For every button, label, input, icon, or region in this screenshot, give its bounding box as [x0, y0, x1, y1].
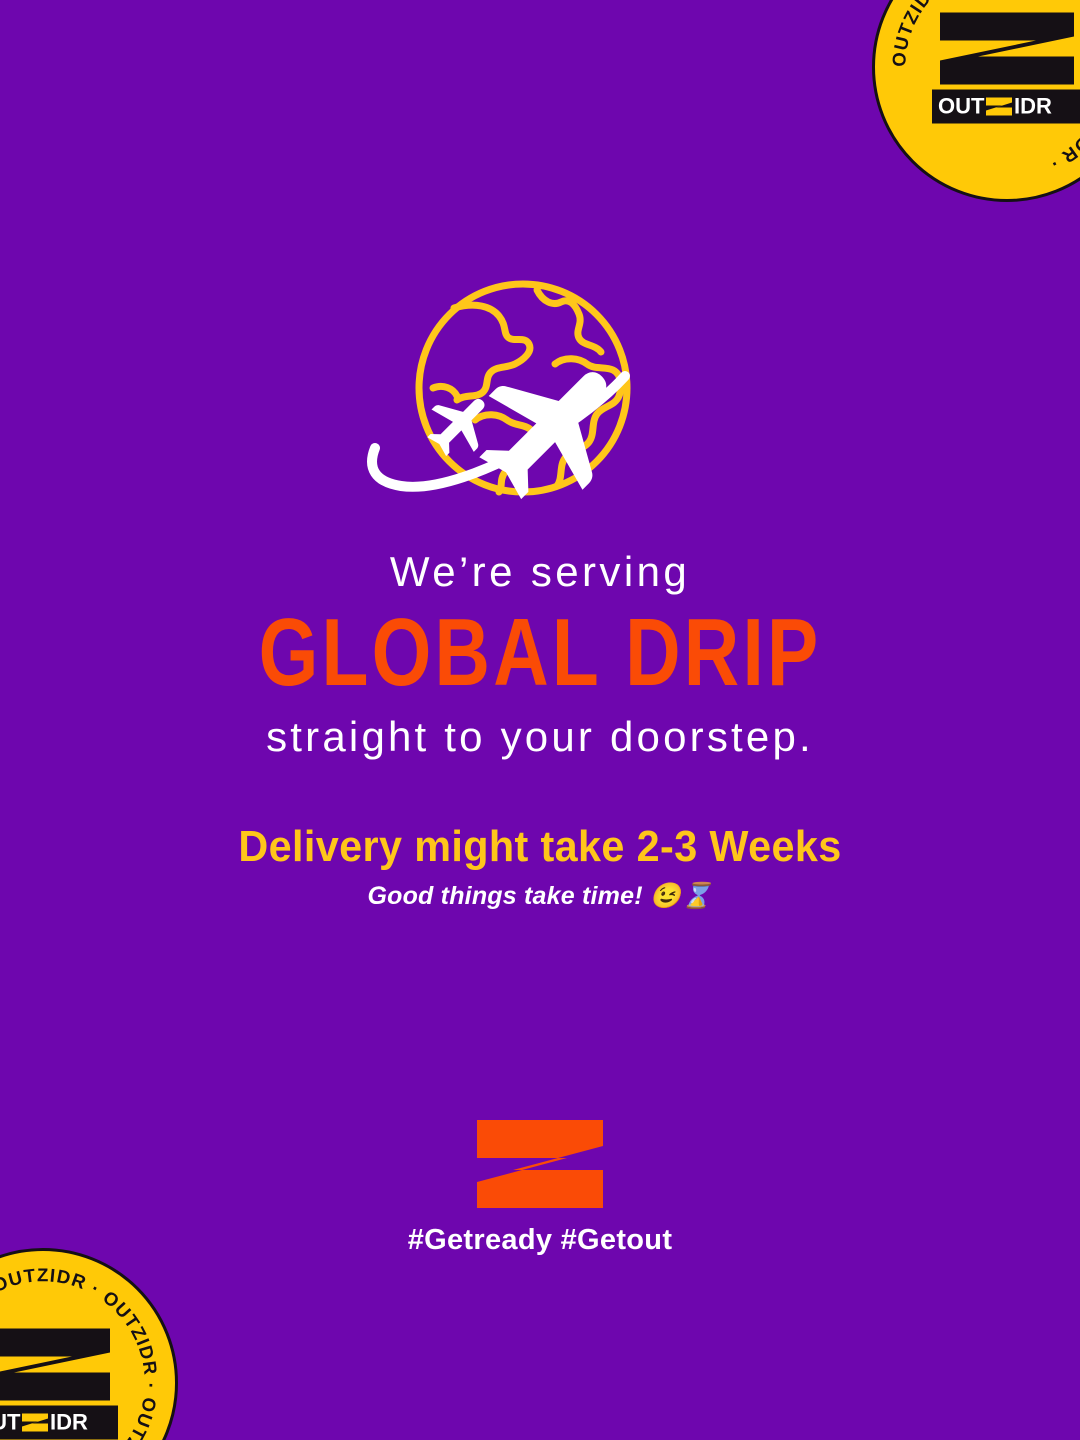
- headline-line-2: GLOBAL DRIP: [108, 601, 972, 705]
- svg-text:IDR: IDR: [1014, 94, 1052, 119]
- headline-block: We’re serving GLOBAL DRIP straight to yo…: [0, 548, 1080, 760]
- badge-wordmark-icon: OUT IDR: [0, 1410, 112, 1436]
- badge-z-logo-icon: [0, 1327, 118, 1403]
- headline-line-3: straight to your doorstep.: [0, 713, 1080, 760]
- delivery-block: Delivery might take 2-3 Weeks Good thing…: [0, 822, 1080, 911]
- delivery-main-text: Delivery might take 2-3 Weeks: [32, 822, 1047, 872]
- badge-z-logo-icon: [932, 11, 1080, 87]
- svg-text:OUT: OUT: [938, 94, 985, 119]
- svg-text:IDR: IDR: [50, 1410, 88, 1435]
- badge-wordmark-box: OUT IDR: [0, 1406, 118, 1440]
- footer-block: #Getready #Getout: [0, 1120, 1080, 1257]
- brand-z-logo-icon: [477, 1120, 603, 1208]
- poster-canvas: OUTZIDR · OUTZIDR · OUTZIDR · OUTZIDR · …: [0, 0, 1080, 1440]
- delivery-sub-text: Good things take time! 😉⌛: [0, 882, 1080, 911]
- badge-core-bottom-left: OUT IDR: [0, 1327, 118, 1440]
- badge-wordmark-icon: OUT IDR: [938, 94, 1076, 120]
- globe-airplane-illustration: [0, 272, 1080, 508]
- headline-line-1: We’re serving: [0, 548, 1080, 595]
- footer-hashtags: #Getready #Getout: [408, 1224, 673, 1257]
- badge-core-top-right: OUT IDR: [932, 11, 1080, 124]
- svg-text:OUT: OUT: [0, 1410, 21, 1435]
- badge-wordmark-box: OUT IDR: [932, 90, 1080, 124]
- badge-top-right: OUTZIDR · OUTZIDR · OUTZIDR · OUTZIDR · …: [872, 0, 1080, 202]
- badge-bottom-left: OUTZIDR · OUTZIDR · OUTZIDR · OUTZIDR · …: [0, 1248, 178, 1440]
- globe-airplane-icon: [357, 272, 723, 508]
